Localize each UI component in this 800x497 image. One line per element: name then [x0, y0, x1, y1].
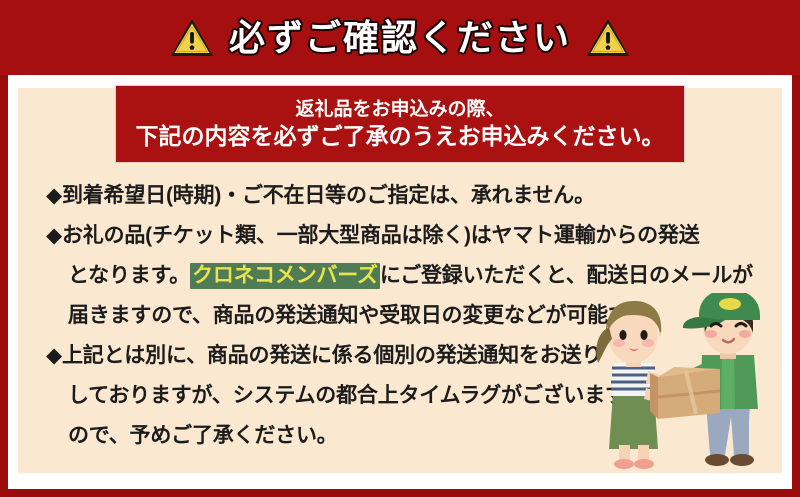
bullet-1-line-1: ◆到着希望日(時期)・ご不在日等のご指定は、承れません。: [46, 176, 746, 216]
cap-emblem: [719, 298, 741, 310]
bullet-marker: ◆: [46, 184, 62, 207]
bullet-2-line-2: となります。クロネコメンバーズにご登録いただくと、配送日のメールが: [46, 256, 746, 296]
subbanner-line-1: 返礼品をお申込みの際、: [295, 99, 504, 121]
subbanner-line-2: 下記の内容を必ずご了承のうえお申込みください。: [136, 123, 665, 149]
courier-pant-left: [710, 411, 725, 455]
woman-eye-right: [640, 330, 647, 340]
notice-bullet-1: ◆到着希望日(時期)・ご不在日等のご指定は、承れません。: [46, 176, 746, 216]
cardboard-parcel: [650, 367, 720, 419]
woman-leg-left: [619, 445, 630, 461]
courier-cheek-left: [705, 330, 717, 338]
woman-shoe-left: [614, 459, 634, 469]
notice-subbanner: 返礼品をお申込みの際、 下記の内容を必ずご了承のうえお申込みください。: [115, 85, 685, 163]
bullet-2-text-1: お礼の品(チケット類、一部大型商品は除く)はヤマト運輸からの発送: [62, 224, 700, 247]
bullet-1-text: 到着希望日(時期)・ご不在日等のご指定は、承れません。: [62, 184, 595, 207]
bullet-3-text-1: 上記とは別に、商品の発送に係る個別の発送通知をお送り: [62, 344, 602, 367]
page-title: 必ずご確認ください: [229, 20, 571, 56]
warning-triangle-icon: [585, 17, 631, 59]
woman-cheek-right: [642, 339, 654, 347]
courier-cheek-right: [739, 330, 751, 338]
courier-shoe-right: [730, 454, 754, 466]
bullet-2-text-4: 届きますので、商品の発送通知や受取日の変更などが可能です。: [68, 304, 668, 327]
courier-uniform-placket: [721, 355, 735, 409]
bullet-marker: ◆: [46, 224, 62, 247]
kuroneko-members-highlight[interactable]: クロネコメンバーズ: [190, 263, 380, 289]
fureai-notice-banner: 必ずご確認ください 返礼品をお申込みの際、 下記の内容を必ずご了承のうえお申込み…: [0, 0, 800, 497]
delivery-handoff-illustration: [584, 293, 780, 473]
woman-leg-right: [638, 445, 649, 461]
bullet-3-text-3: ので、予めご了承ください。: [68, 424, 338, 447]
header-band: 必ずご確認ください: [0, 0, 800, 75]
bullet-2-text-3: にご登録いただくと、配送日のメールが: [380, 264, 753, 287]
woman-eye-left: [619, 330, 626, 340]
bullet-3-text-2: しておりますが、システムの都合上タイムラグがございます: [68, 384, 626, 407]
courier-shoe-left: [705, 454, 729, 466]
bullet-marker: ◆: [46, 344, 62, 367]
woman-cheek-left: [613, 339, 625, 347]
warning-triangle-icon: [169, 17, 215, 59]
bullet-2-line-1: ◆お礼の品(チケット類、一部大型商品は除く)はヤマト運輸からの発送: [46, 216, 746, 256]
bullet-2-text-2: となります。: [68, 264, 190, 287]
woman-shoe-right: [634, 459, 654, 469]
courier-pant-right: [734, 411, 749, 455]
